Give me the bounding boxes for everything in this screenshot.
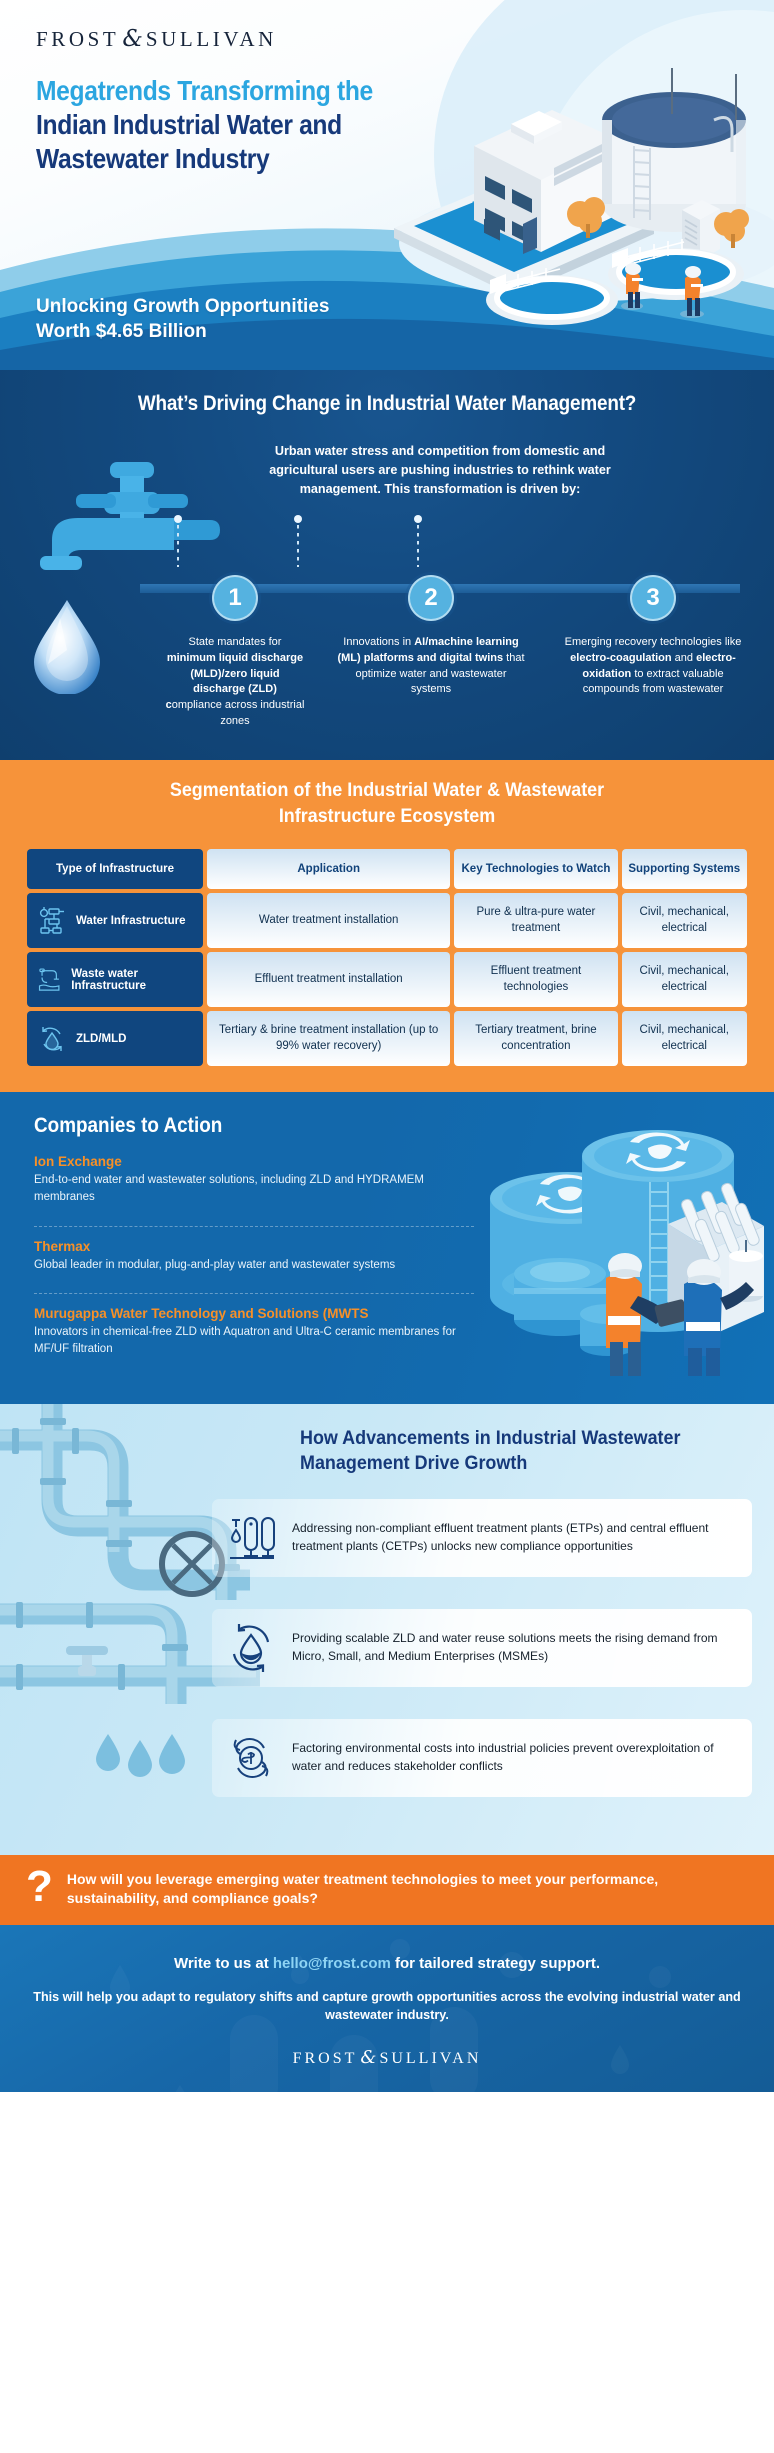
row-type-cell-2: Waste water Infrastructure xyxy=(27,952,203,1007)
cost-recycle-icon xyxy=(224,1732,278,1784)
page-title-line-1: Megatrends Transforming the xyxy=(36,74,432,108)
footer-brand-last: SULLIVAN xyxy=(379,2050,481,2067)
driver-node-dot-1 xyxy=(174,515,182,523)
brand-logo-top: FROST&SULLIVAN xyxy=(36,26,277,52)
drivers-heading: What’s Driving Change in Industrial Wate… xyxy=(39,392,736,416)
companies-section: Companies to Action xyxy=(0,1092,774,1403)
driver-text-3: Emerging recovery technologies like elec… xyxy=(556,635,750,699)
growth-item-text-2: Providing scalable ZLD and water reuse s… xyxy=(292,1630,736,1664)
table-header-row: Type of Infrastructure Application Key T… xyxy=(27,849,747,889)
driver-text-2: Innovations in AI/machine learning (ML) … xyxy=(334,635,528,699)
hero-subtitle: Unlocking Growth Opportunities Worth $4.… xyxy=(36,294,466,344)
brand-logo-footer: FROST&SULLIVAN xyxy=(30,2047,744,2068)
question-text: How will you leverage emerging water tre… xyxy=(67,1870,748,1908)
row-type-label-3: ZLD/MLD xyxy=(76,1033,126,1045)
driver-dashed-line-2 xyxy=(297,525,299,567)
company-item-1[interactable]: Ion Exchange End-to-end water and wastew… xyxy=(34,1154,474,1215)
growth-item-3: Factoring environmental costs into indus… xyxy=(212,1719,752,1797)
row-supporting-cell-1: Civil, mechanical, electrical xyxy=(622,893,747,948)
segmentation-section: Segmentation of the Industrial Water & W… xyxy=(0,760,774,1092)
hero-section: FROST&SULLIVAN Megatrends Transforming t… xyxy=(0,0,774,370)
table-row: Waste water Infrastructure Effluent trea… xyxy=(27,952,747,1007)
company-name-2: Thermax xyxy=(34,1239,474,1254)
growth-heading-line-1: How Advancements in Industrial Wastewate… xyxy=(300,1426,696,1451)
company-name-1: Ion Exchange xyxy=(34,1154,474,1169)
segmentation-heading-line-2: Infrastructure Ecosystem xyxy=(31,804,743,829)
company-item-3[interactable]: Murugappa Water Technology and Solutions… xyxy=(34,1293,474,1367)
row-type-label-1: Water Infrastructure xyxy=(76,915,186,927)
growth-item-text-1: Addressing non-compliant effluent treatm… xyxy=(292,1520,736,1554)
water-recycling-plant-illustration xyxy=(478,1106,768,1376)
effluent-plant-icon xyxy=(224,1512,278,1564)
footer-section: Write to us at hello@frost.com for tailo… xyxy=(0,1925,774,2093)
row-technologies-cell-3: Tertiary treatment, brine concentration xyxy=(454,1011,617,1066)
row-application-cell-2: Effluent treatment installation xyxy=(207,952,450,1007)
driver-cards: 1 State mandates for minimum liquid disc… xyxy=(0,575,774,731)
growth-item-2: Providing scalable ZLD and water reuse s… xyxy=(212,1609,752,1687)
infographic-page: FROST&SULLIVAN Megatrends Transforming t… xyxy=(0,0,774,2092)
growth-item-1: Addressing non-compliant effluent treatm… xyxy=(212,1499,752,1577)
row-supporting-cell-3: Civil, mechanical, electrical xyxy=(622,1011,747,1066)
page-title-line-2: Indian Industrial Water and xyxy=(36,108,432,142)
growth-heading-line-2: Management Drive Growth xyxy=(300,1451,696,1476)
water-infrastructure-icon xyxy=(37,906,67,936)
drivers-lead-text: Urban water stress and competition from … xyxy=(240,442,640,499)
growth-items: Addressing non-compliant effluent treatm… xyxy=(0,1499,774,1797)
company-desc-2: Global leader in modular, plug-and-play … xyxy=(34,1257,474,1274)
row-technologies-cell-2: Effluent treatment technologies xyxy=(454,952,617,1007)
water-treatment-plant-illustration xyxy=(384,28,774,328)
column-header-supporting: Supporting Systems xyxy=(622,849,747,889)
row-supporting-cell-2: Civil, mechanical, electrical xyxy=(622,952,747,1007)
companies-list: Ion Exchange End-to-end water and wastew… xyxy=(34,1154,474,1367)
company-item-2[interactable]: Thermax Global leader in modular, plug-a… xyxy=(34,1226,474,1284)
company-desc-3: Innovators in chemical-free ZLD with Aqu… xyxy=(34,1324,474,1357)
column-header-application: Application xyxy=(207,849,450,889)
growth-heading: How Advancements in Industrial Wastewate… xyxy=(300,1426,696,1477)
question-mark-icon: ? xyxy=(26,1865,53,1909)
hero-subtitle-line-2: Worth $4.65 Billion xyxy=(36,319,466,344)
wastewater-infrastructure-icon xyxy=(37,965,62,995)
driver-node-row xyxy=(0,515,774,531)
driver-number-badge-1: 1 xyxy=(212,575,258,621)
column-header-type: Type of Infrastructure xyxy=(27,849,203,889)
page-title: Megatrends Transforming the Indian Indus… xyxy=(36,74,432,176)
footer-cta-before: Write to us at xyxy=(174,1955,273,1972)
segmentation-heading-line-1: Segmentation of the Industrial Water & W… xyxy=(31,778,743,803)
infrastructure-table: Type of Infrastructure Application Key T… xyxy=(23,845,751,1070)
footer-brand-ampersand: & xyxy=(357,2047,379,2068)
row-application-cell-3: Tertiary & brine treatment installation … xyxy=(207,1011,450,1066)
brand-ampersand: & xyxy=(119,26,145,52)
drivers-section: What’s Driving Change in Industrial Wate… xyxy=(0,370,774,760)
column-header-technologies: Key Technologies to Watch xyxy=(454,849,617,889)
driver-card-3: 3 Emerging recovery technologies like el… xyxy=(542,575,764,731)
footer-brand-first: FROST xyxy=(293,2050,358,2067)
footer-cta: Write to us at hello@frost.com for tailo… xyxy=(30,1955,744,1972)
driver-dashed-line-3 xyxy=(417,525,419,567)
driver-node-dot-2 xyxy=(294,515,302,523)
row-type-label-2: Waste water Infrastructure xyxy=(71,968,193,992)
row-application-cell-1: Water treatment installation xyxy=(207,893,450,948)
table-row: Water Infrastructure Water treatment ins… xyxy=(27,893,747,948)
growth-section: How Advancements in Industrial Wastewate… xyxy=(0,1404,774,1855)
footer-email-link[interactable]: hello@frost.com xyxy=(273,1955,391,1972)
driver-dashed-line-1 xyxy=(177,525,179,567)
driver-node-dot-3 xyxy=(414,515,422,523)
driver-card-2: 2 Innovations in AI/machine learning (ML… xyxy=(320,575,542,731)
driver-text-1: State mandates for minimum liquid discha… xyxy=(164,635,306,731)
footer-note: This will help you adapt to regulatory s… xyxy=(30,1988,744,2026)
driver-number-badge-3: 3 xyxy=(630,575,676,621)
water-reuse-icon xyxy=(224,1622,278,1674)
row-type-cell-3: ZLD/MLD xyxy=(27,1011,203,1066)
hero-subtitle-line-1: Unlocking Growth Opportunities xyxy=(36,294,466,319)
growth-item-text-3: Factoring environmental costs into indus… xyxy=(292,1740,736,1774)
driver-number-badge-2: 2 xyxy=(408,575,454,621)
brand-name-first: FROST xyxy=(36,27,119,51)
brand-name-last: SULLIVAN xyxy=(146,27,277,51)
table-row: ZLD/MLD Tertiary & brine treatment insta… xyxy=(27,1011,747,1066)
question-bar: ? How will you leverage emerging water t… xyxy=(0,1855,774,1925)
segmentation-heading: Segmentation of the Industrial Water & W… xyxy=(31,778,743,829)
company-name-3: Murugappa Water Technology and Solutions… xyxy=(34,1306,474,1321)
driver-card-1: 1 State mandates for minimum liquid disc… xyxy=(150,575,320,731)
zld-mld-icon xyxy=(37,1024,67,1054)
page-title-line-3: Wastewater Industry xyxy=(36,142,432,176)
footer-cta-after: for tailored strategy support. xyxy=(391,1955,600,1972)
company-desc-1: End-to-end water and wastewater solution… xyxy=(34,1172,474,1205)
row-type-cell-1: Water Infrastructure xyxy=(27,893,203,948)
row-technologies-cell-1: Pure & ultra-pure water treatment xyxy=(454,893,617,948)
